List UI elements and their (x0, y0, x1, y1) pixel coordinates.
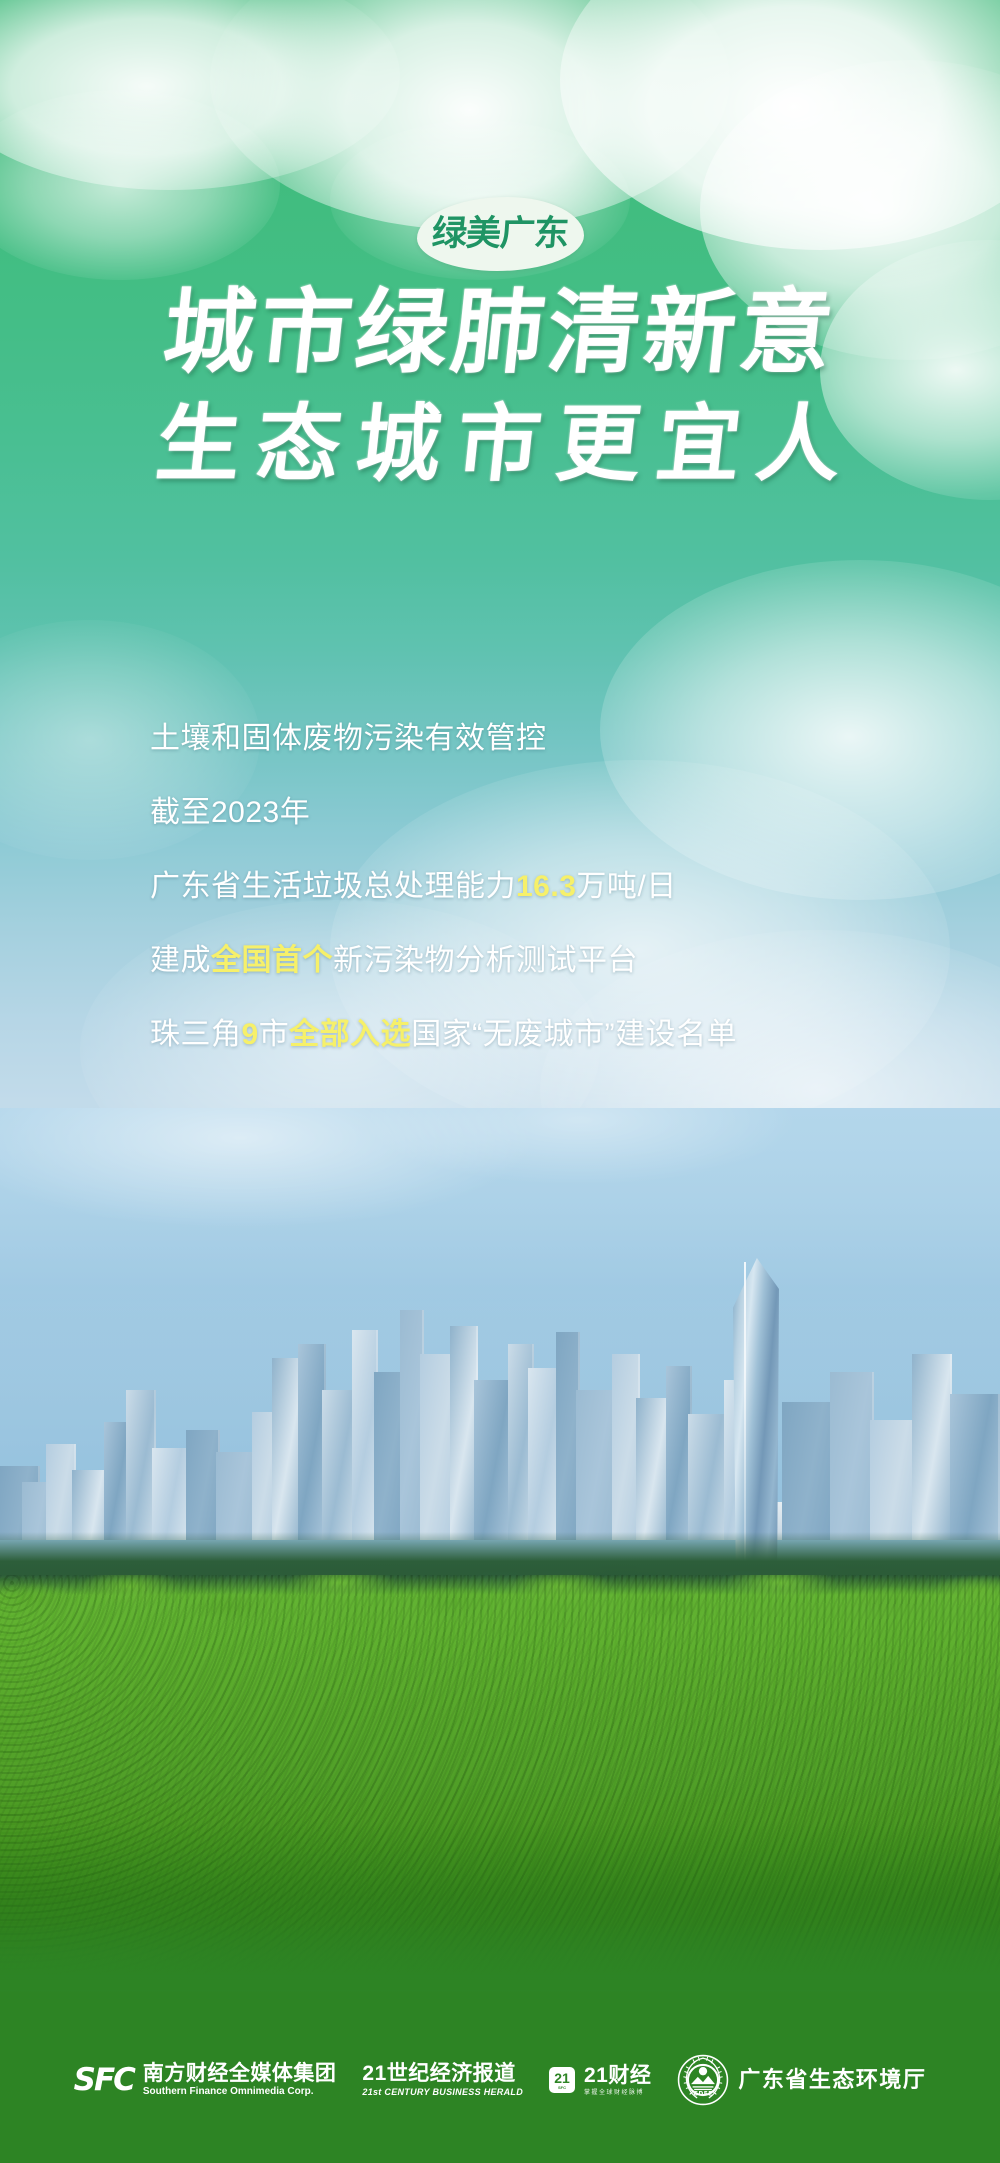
sfc-name-cn: 南方财经全媒体集团 (143, 2063, 337, 2084)
sfc-text: 南方财经全媒体集团 Southern Finance Omnimedia Cor… (143, 2063, 337, 2097)
caijing-badge-icon: 21 SFC (549, 2067, 575, 2093)
brand-badge-label: 绿美广东 (431, 217, 569, 252)
building (688, 1414, 728, 1540)
body-highlight-yellow: 9 (242, 1018, 259, 1051)
body-highlight-yellow: 16.3 (516, 870, 576, 903)
body-text-run: 土壤和固体废物污染有效管控 (150, 722, 547, 755)
logo-sfc[interactable]: SFC 南方财经全媒体集团 Southern Finance Omnimedia… (74, 2063, 337, 2097)
building (782, 1402, 834, 1540)
photo-sky-haze (0, 1108, 1000, 1408)
headline-line-2: 生态城市更宜人 (0, 402, 1000, 486)
building (576, 1390, 616, 1540)
logo-21caijing[interactable]: 21 SFC 21财经 掌握全球财经脉搏 (549, 2065, 651, 2096)
body-line: 土壤和固体废物污染有效管控 (150, 724, 940, 754)
body-text-run: 新污染物分析测试平台 (333, 944, 638, 977)
body-text-run: 珠三角 (150, 1018, 242, 1051)
body-line: 珠三角9市全部入选国家“无废城市”建设名单 (150, 1020, 940, 1050)
page-title: 城市绿肺清新意 生态城市更宜人 (0, 286, 1000, 486)
cloud-shape (210, 0, 730, 230)
building (420, 1354, 454, 1540)
building (870, 1420, 918, 1540)
footer-bar: SFC 南方财经全媒体集团 Southern Finance Omnimedia… (0, 1993, 1000, 2163)
herald-name-en: 21st CENTURY BUSINESS HERALD (362, 2088, 523, 2097)
mangrove-canopy (0, 1575, 1000, 1975)
headline-line-1: 城市绿肺清新意 (0, 286, 1000, 378)
landmark-tower (733, 1258, 779, 1568)
building (636, 1398, 670, 1540)
body-text-run: 建成 (150, 944, 211, 977)
body-highlight-yellow: 全部入选 (289, 1018, 411, 1051)
footer-fade (0, 1923, 1000, 1993)
sfc-wordmark: SFC (74, 2065, 134, 2096)
body-text-run: 市 (259, 1018, 290, 1051)
building (912, 1354, 952, 1540)
building (186, 1430, 220, 1540)
body-text-run: 截至2023年 (150, 796, 310, 829)
sfc-name-en: Southern Finance Omnimedia Corp. (143, 2087, 337, 2097)
cloud-shape (0, 90, 280, 280)
caijing-tagline: 掌握全球财经脉搏 (584, 2090, 651, 2096)
herald-name-cn: 21世纪经济报道 (362, 2063, 523, 2084)
caijing-badge-number: 21 (554, 2071, 570, 2085)
caijing-name-cn: 21财经 (584, 2065, 651, 2086)
footer-logo-row: SFC 南方财经全媒体集团 Southern Finance Omnimedia… (0, 1993, 1000, 2163)
caijing-text: 21财经 掌握全球财经脉搏 (584, 2065, 651, 2096)
building (830, 1372, 874, 1540)
body-highlight-yellow: 全国首个 (211, 944, 333, 977)
cloud-shape (0, 0, 400, 190)
building (152, 1448, 190, 1540)
poster-root: 绿美广东 城市绿肺清新意 生态城市更宜人 土壤和固体废物污染有效管控 截至202… (0, 0, 1000, 2163)
building (322, 1390, 356, 1540)
body-text-run: 万吨/日 (576, 870, 676, 903)
body-line: 建成全国首个新污染物分析测试平台 (150, 946, 940, 976)
logo-21st-century-business-herald[interactable]: 21世纪经济报道 21st CENTURY BUSINESS HERALD (362, 2063, 523, 2097)
svg-text:GDEE: GDEE (694, 2092, 713, 2098)
caijing-badge-sub: SFC (558, 2086, 566, 2090)
building (950, 1394, 1000, 1540)
logo-gdee[interactable]: GDEE 广东省生态环境厅 (677, 2054, 926, 2106)
building (474, 1380, 512, 1540)
gdee-emblem-icon: GDEE (677, 2054, 729, 2106)
body-text-run: 广东省生活垃圾总处理能力 (150, 870, 516, 903)
herald-text: 21世纪经济报道 21st CENTURY BUSINESS HERALD (362, 2063, 523, 2097)
body-line: 截至2023年 (150, 798, 940, 828)
gdee-name-cn: 广东省生态环境厅 (738, 2069, 926, 2091)
body-text-block: 土壤和固体废物污染有效管控 截至2023年 广东省生活垃圾总处理能力16.3万吨… (150, 724, 940, 1050)
cloud-shape (560, 0, 1000, 250)
body-line: 广东省生活垃圾总处理能力16.3万吨/日 (150, 872, 940, 902)
landmark-tower-edge (744, 1262, 746, 1568)
body-text-run: 国家“无废城市”建设名单 (411, 1018, 737, 1051)
